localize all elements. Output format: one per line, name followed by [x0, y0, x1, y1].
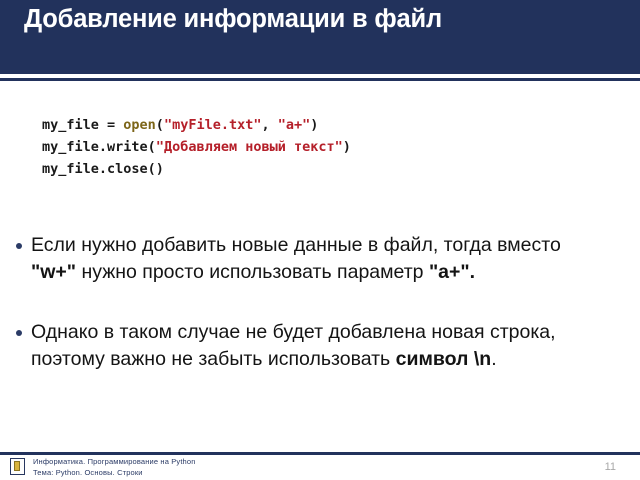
bullet-text-2: Однако в таком случае не будет добавлена… — [31, 319, 586, 372]
code-comma: , — [261, 117, 277, 133]
code-write-call: my_file.write — [42, 139, 148, 155]
code-paren-close-2: ) — [343, 139, 351, 155]
code-string-mode: "a+" — [278, 117, 311, 133]
bullet-1-bold1: "w+" — [31, 261, 76, 283]
bullet-2-bold1: символ \n — [396, 348, 492, 370]
book-icon — [10, 458, 25, 475]
code-string-content: "Добавляем новый текст" — [156, 139, 343, 155]
code-line-2: my_file.write("Добавляем новый текст") — [42, 139, 351, 155]
code-line-1: my_file = open("myFile.txt", "a+") — [42, 117, 318, 133]
bullet-1-part1: Если нужно добавить новые данные в файл,… — [31, 234, 561, 256]
list-item: Если нужно добавить новые данные в файл,… — [16, 232, 626, 285]
bullet-dot-icon — [16, 243, 22, 249]
footer-line-1: Информатика. Программирование на Python — [33, 457, 196, 468]
code-paren-open: ( — [156, 117, 164, 133]
footer-caption: Информатика. Программирование на Python … — [33, 457, 196, 478]
code-keyword-open: open — [123, 117, 156, 133]
code-paren-close: ) — [310, 117, 318, 133]
code-assignment: my_file = — [42, 117, 123, 133]
bullet-dot-icon — [16, 330, 22, 336]
footer-line-2: Тема: Python. Основы. Строки — [33, 468, 196, 479]
page-number: 11 — [605, 461, 616, 473]
code-paren-open-2: ( — [148, 139, 156, 155]
code-block: my_file = open("myFile.txt", "a+") my_fi… — [42, 114, 351, 180]
bullet-1-bold2: "a+". — [429, 261, 475, 283]
slide-footer: Информатика. Программирование на Python … — [0, 455, 640, 480]
list-item: Однако в таком случае не будет добавлена… — [16, 319, 626, 372]
bullet-2-part2: . — [491, 348, 496, 370]
bullet-text-1: Если нужно добавить новые данные в файл,… — [31, 232, 586, 285]
bullet-1-part2: нужно просто использовать параметр — [76, 261, 429, 283]
code-string-filename: "myFile.txt" — [164, 117, 262, 133]
code-line-3: my_file.close() — [42, 161, 164, 177]
bullet-list: Если нужно добавить новые данные в файл,… — [16, 232, 626, 372]
page-title: Добавление информации в файл — [24, 4, 624, 35]
header-divider — [0, 78, 640, 81]
